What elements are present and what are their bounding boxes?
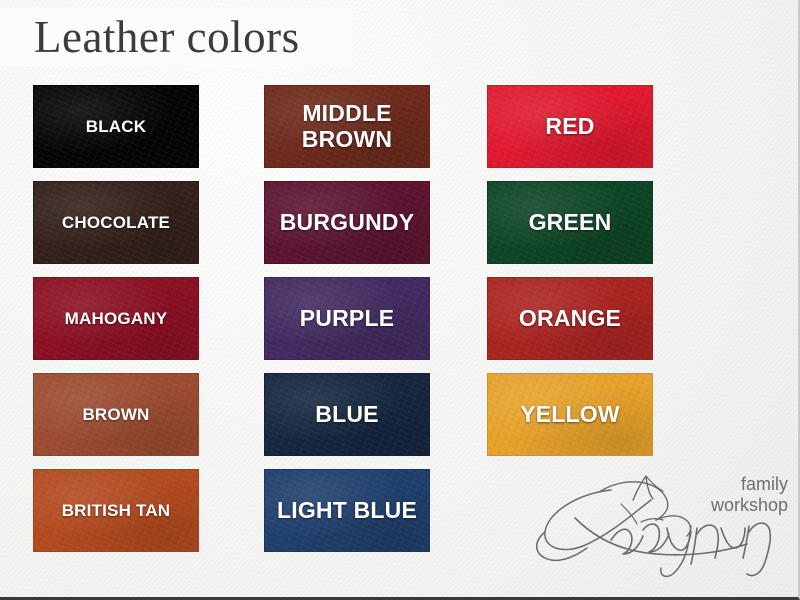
color-swatch-label: ORANGE [513, 306, 627, 332]
color-swatch-label: YELLOW [514, 402, 626, 428]
color-swatch: BLUE [264, 373, 430, 456]
page-title: Leather colors [34, 11, 300, 63]
color-swatch: BLACK [33, 85, 199, 168]
color-swatch: LIGHT BLUE [264, 469, 430, 552]
logo-tagline-line-2: workshop [668, 495, 788, 516]
color-swatch: BROWN [33, 373, 199, 456]
color-swatch: GREEN [487, 181, 653, 264]
color-swatch-label: RED [539, 114, 600, 140]
color-swatch: BRITISH TAN [33, 469, 199, 552]
color-swatch-label: GREEN [523, 210, 618, 236]
color-swatch: CHOCOLATE [33, 181, 199, 264]
color-swatch-label: LIGHT BLUE [271, 498, 423, 524]
color-swatch-label: BURGUNDY [274, 210, 421, 236]
swatch-column-1: BLACKCHOCOLATEMAHOGANYBROWNBRITISH TAN [33, 85, 199, 552]
brand-logo: family workshop [515, 470, 790, 578]
color-swatch-label: MIDDLE BROWN [265, 101, 429, 153]
color-swatch: RED [487, 85, 653, 168]
swatch-column-3: REDGREENORANGEYELLOW [487, 85, 653, 456]
color-swatch: MIDDLE BROWN [264, 85, 430, 168]
logo-tagline-line-1: family [668, 474, 788, 495]
logo-tagline: family workshop [668, 474, 788, 516]
color-swatch: MAHOGANY [33, 277, 199, 360]
color-swatch-label: BROWN [76, 405, 155, 424]
color-swatch-label: MAHOGANY [59, 309, 174, 328]
leather-colors-poster: Leather colors BLACKCHOCOLATEMAHOGANYBRO… [0, 0, 800, 600]
color-swatch: ORANGE [487, 277, 653, 360]
color-swatch-label: PURPLE [294, 306, 401, 332]
color-swatch: YELLOW [487, 373, 653, 456]
color-swatch: PURPLE [264, 277, 430, 360]
color-swatch-label: BLACK [80, 117, 153, 136]
swatch-column-2: MIDDLE BROWNBURGUNDYPURPLEBLUELIGHT BLUE [264, 85, 430, 552]
color-swatch-label: CHOCOLATE [56, 213, 176, 232]
color-swatch: BURGUNDY [264, 181, 430, 264]
color-swatch-label: BLUE [309, 402, 384, 428]
color-swatch-label: BRITISH TAN [56, 501, 177, 520]
